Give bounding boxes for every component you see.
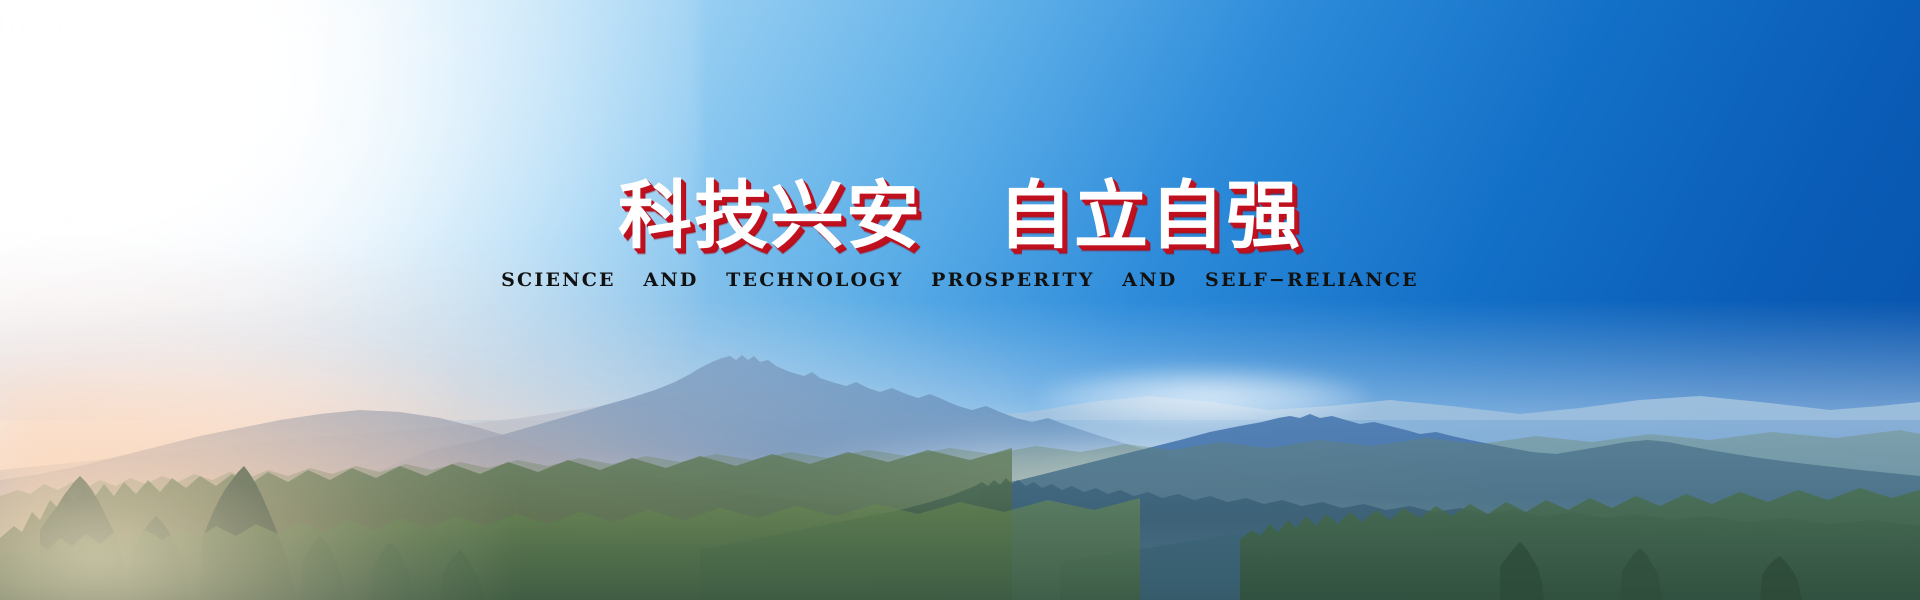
hero-banner: 科技兴安 自立自强 SCIENCE AND TECHNOLOGY PROSPER… [0, 0, 1920, 600]
foreground-canopy-bottom-left [0, 498, 1920, 600]
page-subtitle: SCIENCE AND TECHNOLOGY PROSPERITY AND SE… [0, 269, 1920, 291]
page-title: 科技兴安 自立自强 [618, 178, 1302, 255]
banner-text-block: 科技兴安 自立自强 SCIENCE AND TECHNOLOGY PROSPER… [0, 178, 1920, 291]
